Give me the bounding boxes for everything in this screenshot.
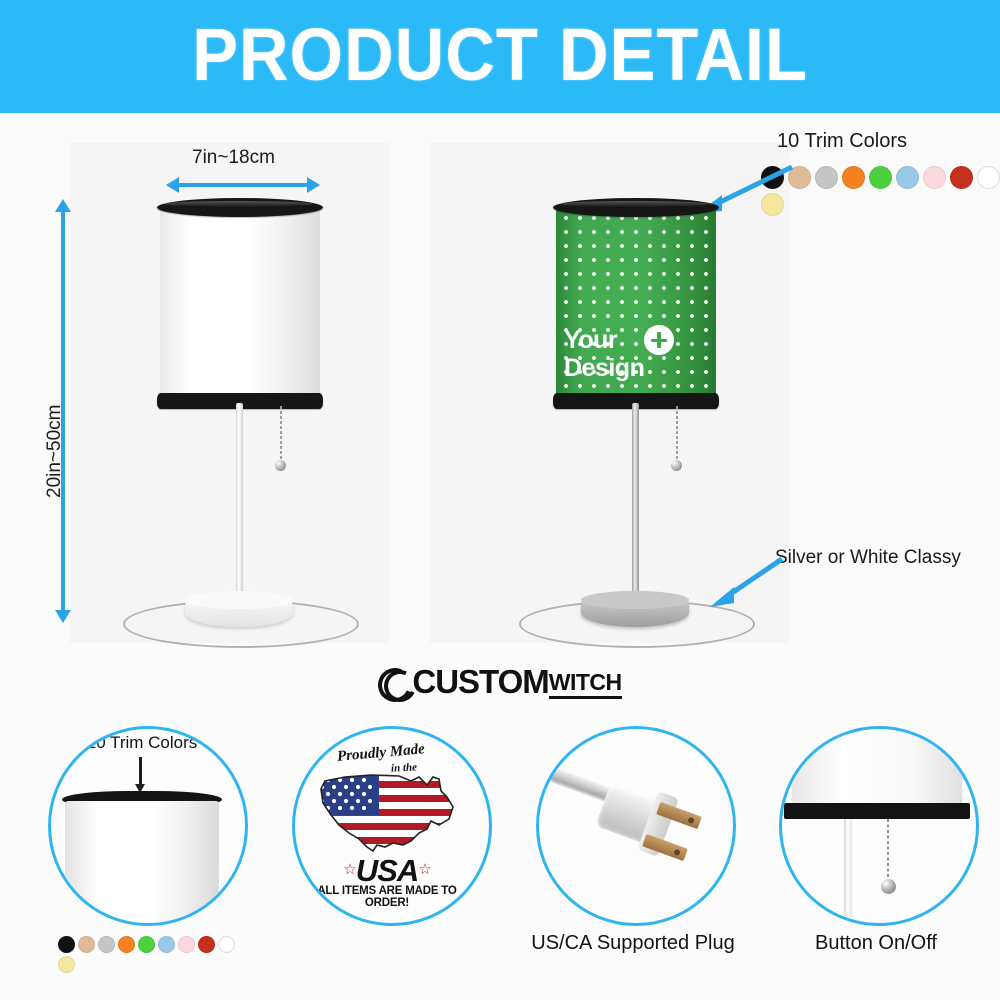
swatch-green[interactable]: [869, 166, 892, 189]
c-crescent-icon: [378, 668, 412, 702]
brand-name-primary: CUSTOM: [412, 663, 548, 700]
swatch-sm-red[interactable]: [198, 936, 215, 953]
trim-colors-label: 10 Trim Colors: [777, 130, 907, 153]
feature-plug-label: US/CA Supported Plug: [506, 932, 760, 955]
plug-prong-lower: [642, 834, 688, 861]
lamp-base-silver: [581, 591, 689, 627]
feature-button-label: Button On/Off: [763, 932, 989, 955]
swatch-sm-tan[interactable]: [78, 936, 95, 953]
width-arrow: [178, 183, 308, 187]
shade-surface: [160, 207, 320, 399]
feature-trim-inner-label: 10 Trim Colors: [51, 733, 233, 753]
swatch-red[interactable]: [950, 166, 973, 189]
pull-chain-ball-green: [671, 460, 682, 471]
swatch-sm-gray[interactable]: [98, 936, 115, 953]
pull-chain: [280, 406, 282, 463]
star-left-icon: ☆: [343, 861, 355, 878]
trim-highlight-green: [559, 201, 709, 207]
brand-name-secondary: WITCH: [549, 669, 622, 699]
shade-trim-top: [157, 198, 323, 217]
usa-badge-word: ☆USA☆: [309, 853, 465, 889]
pull-chain-ball-closeup[interactable]: [881, 879, 896, 894]
feature-circle-usa: Proudly Made in the: [292, 726, 492, 926]
product-stage: 10 Trim Colors 7in~18cm: [0, 113, 1000, 658]
page-title: PRODUCT DETAIL: [35, 16, 965, 94]
header-banner: PRODUCT DETAIL: [0, 0, 1000, 113]
feature-circle-plug: [536, 726, 736, 926]
swatch-sm-green[interactable]: [138, 936, 155, 953]
pull-chain-closeup[interactable]: [887, 819, 889, 881]
lampshade-white: [160, 198, 320, 408]
swatch-pink[interactable]: [923, 166, 946, 189]
swatch-orange[interactable]: [842, 166, 865, 189]
shade-surface-green: Your Design: [556, 207, 716, 399]
feature-trim-swatch-row: [58, 936, 248, 976]
lampshade-green: Your Design: [556, 198, 716, 408]
shade-sample: [65, 801, 219, 926]
swatch-sm-black[interactable]: [58, 936, 75, 953]
pull-chain-green: [676, 406, 678, 463]
base-finish-arrow: [700, 553, 790, 615]
swatch-light-blue[interactable]: [896, 166, 919, 189]
your-design-text: Your Design: [564, 327, 708, 381]
usa-badge: Proudly Made in the: [309, 745, 465, 905]
swatch-sm-light-blue[interactable]: [158, 936, 175, 953]
swatch-white[interactable]: [977, 166, 1000, 189]
base-finish-label: Silver or White Classy: [775, 547, 961, 569]
swatch-sm-orange[interactable]: [118, 936, 135, 953]
feature-circle-trim: 10 Trim Colors: [48, 726, 248, 926]
width-measure-label: 7in~18cm: [192, 147, 275, 169]
design-line-2: Design: [564, 355, 708, 381]
plus-icon: [644, 325, 674, 355]
swatch-sm-yellow[interactable]: [58, 956, 75, 973]
usa-badge-subtitle: ALL ITEMS ARE MADE TO ORDER!: [309, 885, 465, 909]
base-top-face-silver: [581, 591, 689, 609]
brand-logo: CUSTOMWITCH: [0, 663, 1000, 702]
shade-trim-top-green: [553, 198, 719, 217]
trim-closeup: [784, 803, 970, 819]
design-line-1: Your: [564, 327, 708, 353]
usa-map-flag-icon: [315, 767, 459, 855]
feature-circle-button: [779, 726, 979, 926]
height-measure-label: 20in~50cm: [44, 405, 66, 498]
base-top-face: [185, 591, 293, 609]
swatch-gray[interactable]: [815, 166, 838, 189]
down-arrow-icon: [139, 757, 142, 785]
pull-chain-ball: [275, 460, 286, 471]
product-detail-page: PRODUCT DETAIL 10 Trim Colors: [0, 0, 1000, 1000]
trim-highlight: [163, 201, 313, 207]
shade-closeup: [792, 735, 962, 805]
lamp-base-white: [185, 591, 293, 627]
lamp-pole-silver: [632, 403, 639, 608]
swatch-sm-white[interactable]: [218, 936, 235, 953]
star-right-icon: ☆: [418, 861, 430, 878]
lamp-pole: [236, 403, 243, 608]
swatch-sm-pink[interactable]: [178, 936, 195, 953]
pole-closeup: [844, 819, 852, 926]
